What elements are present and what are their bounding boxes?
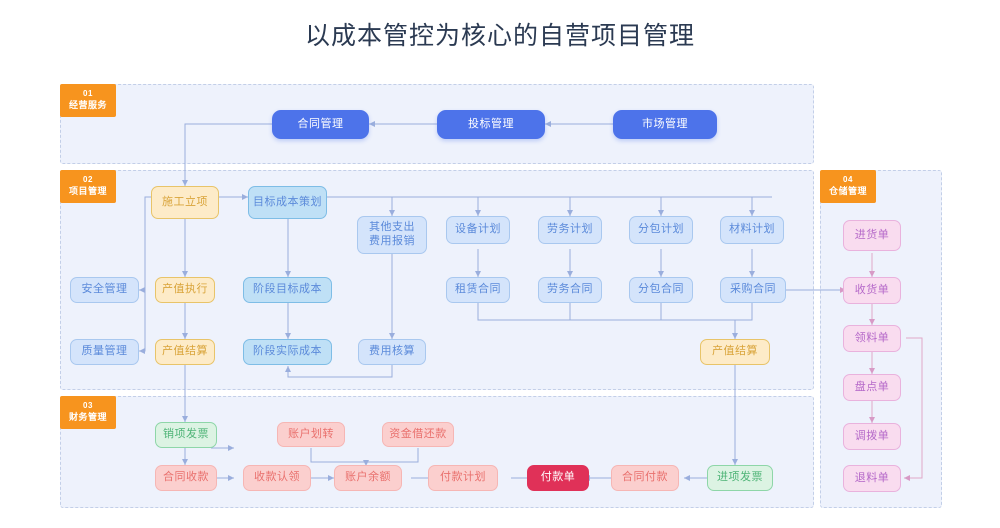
node-input-invoice[interactable]: 进项发票	[707, 465, 773, 491]
section-name: 经营服务	[60, 100, 116, 111]
node-labor-plan[interactable]: 劳务计划	[538, 216, 602, 244]
node-output-settle-right[interactable]: 产值结算	[700, 339, 770, 365]
node-stock-count[interactable]: 盘点单	[843, 374, 901, 401]
section-panel-03	[60, 396, 814, 508]
node-material-requisition[interactable]: 领料单	[843, 325, 901, 352]
node-transfer-order[interactable]: 调拨单	[843, 423, 901, 450]
node-quality-mgmt[interactable]: 质量管理	[70, 339, 139, 365]
section-tag-04: 04 仓储管理	[820, 170, 876, 203]
diagram-canvas: 以成本管控为核心的自营项目管理 01 经营服务 02 项目管理 03 财务管理 …	[0, 0, 1000, 528]
node-purchase-contract[interactable]: 采购合同	[720, 277, 786, 303]
section-name: 财务管理	[60, 412, 116, 423]
node-contract-payment[interactable]: 合同付款	[611, 465, 679, 491]
node-safety-mgmt[interactable]: 安全管理	[70, 277, 139, 303]
node-contract-mgmt[interactable]: 合同管理	[272, 110, 369, 139]
node-subcontract-contract[interactable]: 分包合同	[629, 277, 693, 303]
node-account-balance[interactable]: 账户余额	[334, 465, 402, 491]
node-output-settle-left[interactable]: 产值结算	[155, 339, 215, 365]
section-number: 03	[60, 401, 116, 411]
node-material-plan[interactable]: 材料计划	[720, 216, 784, 244]
node-receipt-claim[interactable]: 收款认领	[243, 465, 311, 491]
node-stage-actual-cost[interactable]: 阶段实际成本	[243, 339, 332, 365]
node-goods-receipt[interactable]: 收货单	[843, 277, 901, 304]
node-subcontract-plan[interactable]: 分包计划	[629, 216, 693, 244]
section-tag-03: 03 财务管理	[60, 396, 116, 429]
section-number: 01	[60, 89, 116, 99]
node-target-cost-plan[interactable]: 目标成本策划	[248, 186, 327, 219]
section-tag-01: 01 经营服务	[60, 84, 116, 117]
page-title: 以成本管控为核心的自营项目管理	[0, 16, 1000, 52]
node-payment-plan[interactable]: 付款计划	[428, 465, 498, 491]
node-contract-receipt[interactable]: 合同收款	[155, 465, 217, 491]
node-labor-contract[interactable]: 劳务合同	[538, 277, 602, 303]
node-output-execute[interactable]: 产值执行	[155, 277, 215, 303]
node-lease-contract[interactable]: 租赁合同	[446, 277, 510, 303]
section-number: 02	[60, 175, 116, 185]
node-fund-loan-repay[interactable]: 资金借还款	[382, 422, 454, 447]
node-market-mgmt[interactable]: 市场管理	[613, 110, 717, 139]
section-name: 项目管理	[60, 186, 116, 197]
section-number: 04	[820, 175, 876, 185]
section-tag-02: 02 项目管理	[60, 170, 116, 203]
node-bid-mgmt[interactable]: 投标管理	[437, 110, 545, 139]
node-equipment-plan[interactable]: 设备计划	[446, 216, 510, 244]
node-sales-invoice[interactable]: 销项发票	[155, 422, 217, 448]
node-construction-project[interactable]: 施工立项	[151, 186, 219, 219]
node-account-transfer[interactable]: 账户划转	[277, 422, 345, 447]
node-stage-target-cost[interactable]: 阶段目标成本	[243, 277, 332, 303]
node-other-expense[interactable]: 其他支出 费用报销	[357, 216, 427, 254]
node-payment-order[interactable]: 付款单	[527, 465, 589, 491]
node-material-return[interactable]: 退料单	[843, 465, 901, 492]
section-name: 仓储管理	[820, 186, 876, 197]
node-stock-in[interactable]: 进货单	[843, 220, 901, 251]
node-expense-account[interactable]: 费用核算	[358, 339, 426, 365]
